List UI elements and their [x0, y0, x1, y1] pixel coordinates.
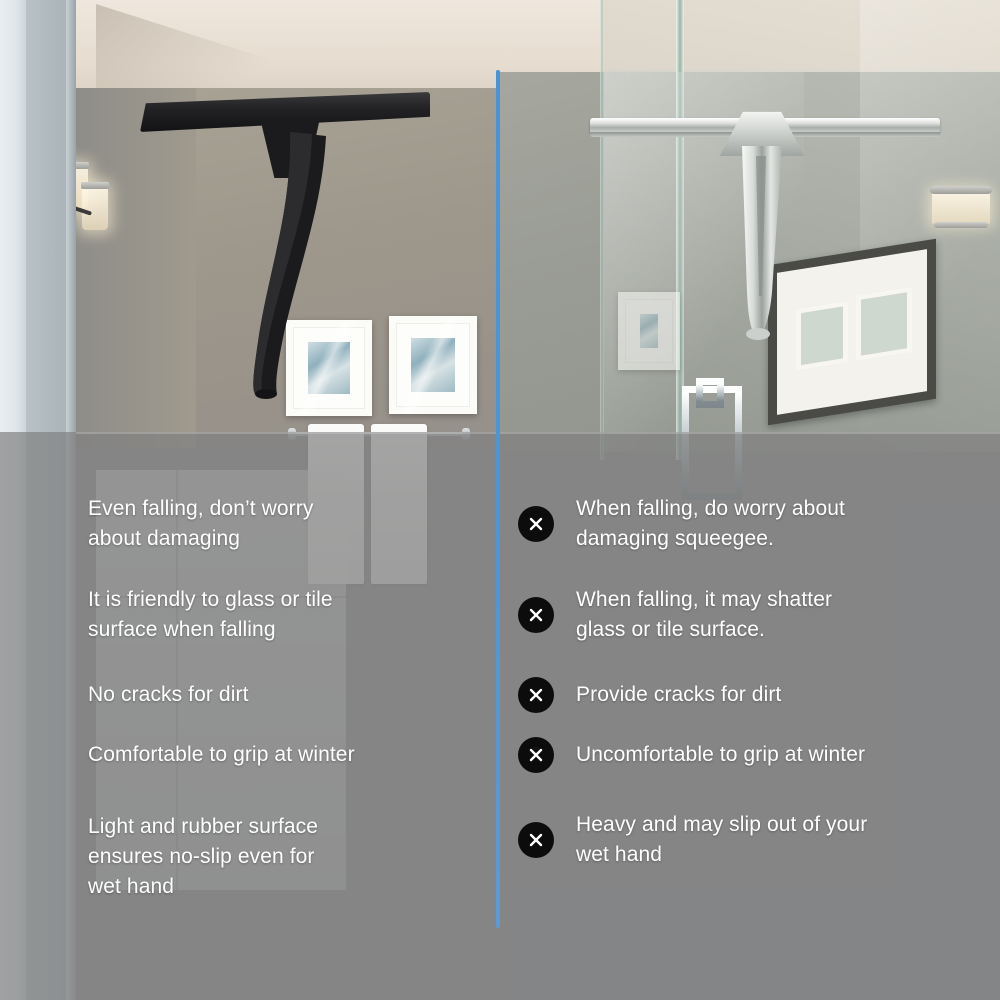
list-item: Comfortable to grip at winter: [30, 737, 470, 773]
list-item: Heavy and may slip out of your wet hand: [518, 810, 978, 870]
list-item-label: Heavy and may slip out of your wet hand: [576, 810, 867, 870]
list-item: When falling, it may shatter glass or ti…: [518, 585, 978, 645]
squeegee-handle-chrome: [590, 96, 940, 396]
list-item: Even falling, don’t worry about damaging: [30, 494, 470, 554]
list-item-label: Comfortable to grip at winter: [88, 740, 355, 770]
cross-icon: [518, 677, 554, 713]
list-item-label: Light and rubber surface ensures no-slip…: [88, 812, 318, 902]
cross-icon: [518, 737, 554, 773]
chrome-metal-squeegee: [590, 96, 940, 396]
cross-icon: [518, 597, 554, 633]
list-item: Provide cracks for dirt: [518, 677, 978, 713]
list-item-label: It is friendly to glass or tile surface …: [88, 585, 333, 645]
comparison-columns: Even falling, don’t worry about damaging…: [0, 432, 1000, 1000]
list-item: When falling, do worry about damaging sq…: [518, 494, 978, 554]
overlay-left-extension: [0, 432, 76, 1000]
list-item-label: Even falling, don’t worry about damaging: [88, 494, 313, 554]
list-item: Uncomfortable to grip at winter: [518, 737, 978, 773]
squeegee-handle-black: [140, 92, 430, 402]
wall-sconce-right: [930, 172, 1000, 242]
cross-icon: [518, 822, 554, 858]
list-item: No cracks for dirt: [30, 677, 470, 713]
list-item-label: When falling, it may shatter glass or ti…: [576, 585, 832, 645]
list-item: It is friendly to glass or tile surface …: [30, 585, 470, 645]
list-item-label: When falling, do worry about damaging sq…: [576, 494, 845, 554]
black-rubber-squeegee: [140, 92, 430, 402]
list-item-label: Provide cracks for dirt: [576, 680, 781, 710]
list-item: Light and rubber surface ensures no-slip…: [30, 812, 470, 902]
list-item-label: Uncomfortable to grip at winter: [576, 740, 865, 770]
product-comparison-image: Even falling, don’t worry about damaging…: [0, 0, 1000, 1000]
list-item-label: No cracks for dirt: [88, 680, 249, 710]
cross-icon: [518, 506, 554, 542]
